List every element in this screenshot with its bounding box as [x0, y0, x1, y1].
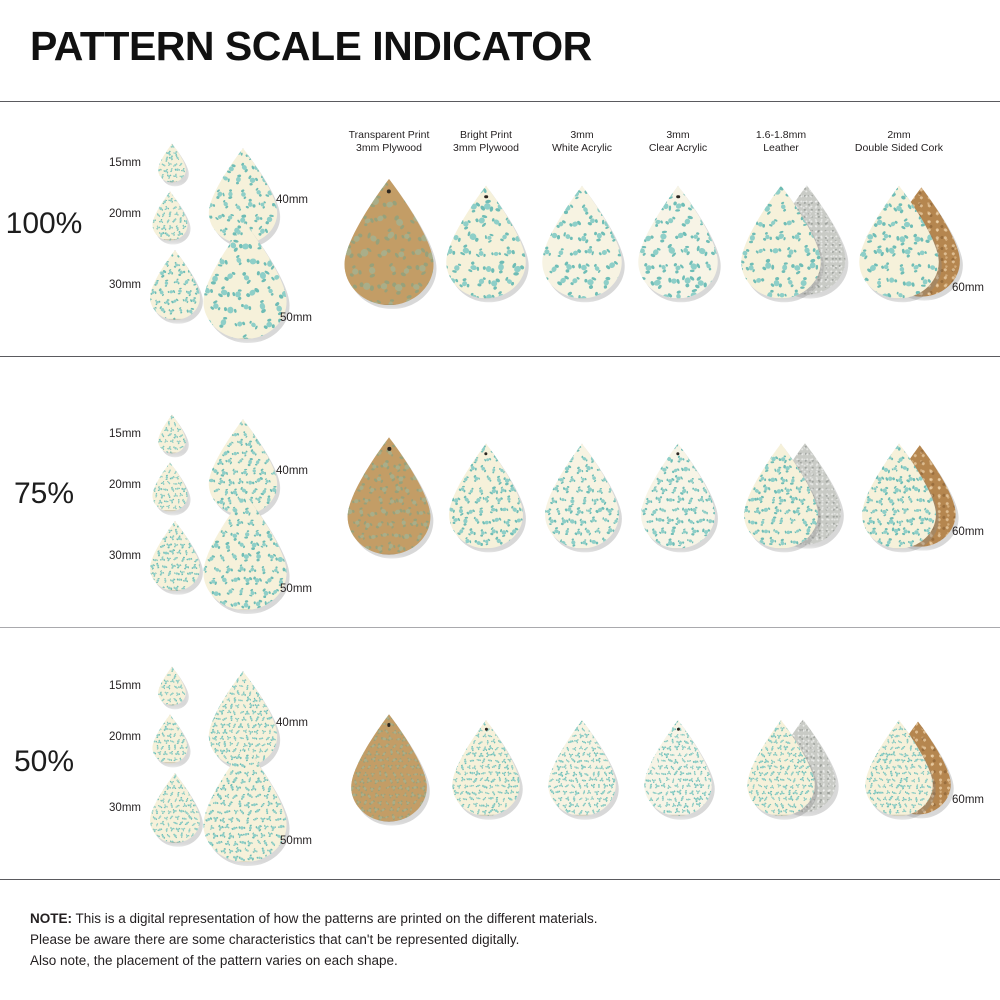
material-drop-bright-print-plywood — [446, 443, 526, 549]
drop-edge — [741, 443, 821, 549]
drop-edge — [744, 720, 817, 816]
material-size-label-100: 60mm — [952, 282, 984, 294]
size-label-30mm: 30mm — [109, 279, 141, 291]
drop-edge — [157, 667, 187, 706]
note-line-2: Please be aware there are some character… — [30, 929, 598, 950]
drop-edge — [859, 443, 939, 549]
drop-edge — [638, 443, 718, 549]
size-label-50mm: 50mm — [280, 312, 312, 324]
drop-edge — [157, 415, 187, 454]
size-drop-50mm — [200, 746, 290, 863]
size-label-20mm: 20mm — [109, 208, 141, 220]
material-drop-leather — [738, 185, 824, 299]
drop-edge — [862, 720, 935, 816]
material-drop-bright-print-plywood — [443, 185, 529, 299]
material-header-line2: Leather — [756, 142, 806, 155]
size-label-30mm: 30mm — [109, 550, 141, 562]
material-drop-double-sided-cork — [859, 443, 939, 549]
drop-edge — [635, 185, 721, 299]
size-label-15mm: 15mm — [109, 680, 141, 692]
size-drop-15mm — [157, 667, 187, 706]
drop-edge — [443, 185, 529, 299]
material-header-line2: Double Sided Cork — [855, 142, 943, 155]
drop-edge — [200, 494, 290, 611]
size-drop-30mm — [148, 521, 202, 591]
size-label-40mm: 40mm — [276, 465, 308, 477]
size-label-15mm: 15mm — [109, 157, 141, 169]
drop-edge — [542, 443, 622, 549]
size-drop-20mm — [151, 462, 189, 511]
material-header-white-acrylic: 3mmWhite Acrylic — [552, 129, 612, 154]
drop-edge — [641, 720, 714, 816]
drop-edge — [200, 223, 290, 340]
drop-edge — [157, 144, 187, 183]
material-header-line1: 2mm — [855, 129, 943, 142]
drop-edge — [148, 773, 202, 843]
divider-top — [0, 101, 1000, 102]
note-line-3: Also note, the placement of the pattern … — [30, 950, 598, 971]
material-drop-white-acrylic — [542, 443, 622, 549]
material-header-line1: 3mm — [552, 129, 612, 142]
hanging-hole — [387, 189, 391, 193]
pattern-scale-indicator-sheet: PATTERN SCALE INDICATOR Transparent Prin… — [0, 0, 1000, 1000]
material-drop-white-acrylic — [545, 720, 618, 816]
size-label-30mm: 30mm — [109, 802, 141, 814]
size-label-50mm: 50mm — [280, 583, 312, 595]
size-label-40mm: 40mm — [276, 717, 308, 729]
material-drop-double-sided-cork — [856, 185, 942, 299]
size-drop-20mm — [151, 191, 189, 240]
size-drop-15mm — [157, 144, 187, 183]
material-header-line2: White Acrylic — [552, 142, 612, 155]
material-header-line2: 3mm Plywood — [453, 142, 519, 155]
material-drop-bright-print-plywood — [449, 720, 522, 816]
material-header-double-sided-cork: 2mmDouble Sided Cork — [855, 129, 943, 154]
material-drop-clear-acrylic — [635, 185, 721, 299]
divider-note — [0, 879, 1000, 880]
material-header-line1: Transparent Print — [349, 129, 430, 142]
size-drop-30mm — [148, 773, 202, 843]
material-drop-double-sided-cork — [862, 720, 935, 816]
drop-edge — [449, 720, 522, 816]
size-drop-50mm — [200, 494, 290, 611]
drop-edge — [344, 437, 434, 555]
size-label-40mm: 40mm — [276, 194, 308, 206]
hanging-hole — [676, 195, 680, 199]
drop-edge — [200, 746, 290, 863]
page-title: PATTERN SCALE INDICATOR — [30, 26, 592, 67]
drop-edge — [148, 521, 202, 591]
hanging-hole — [484, 195, 488, 199]
drop-edge — [148, 250, 202, 320]
material-drop-leather — [741, 443, 821, 549]
hanging-hole — [387, 447, 391, 451]
material-size-label-50: 60mm — [952, 794, 984, 806]
drop-edge — [341, 178, 437, 305]
material-header-row: Transparent Print3mm PlywoodBright Print… — [0, 129, 1000, 163]
material-header-line1: 1.6-1.8mm — [756, 129, 806, 142]
size-drop-15mm — [157, 415, 187, 454]
divider-row-100 — [0, 356, 1000, 357]
size-label-15mm: 15mm — [109, 428, 141, 440]
drop-edge — [539, 185, 625, 299]
size-label-20mm: 20mm — [109, 479, 141, 491]
material-drop-leather — [744, 720, 817, 816]
size-label-50mm: 50mm — [280, 835, 312, 847]
drop-edge — [348, 714, 430, 822]
material-header-clear-acrylic: 3mmClear Acrylic — [649, 129, 707, 154]
material-drop-clear-acrylic — [638, 443, 718, 549]
material-header-transparent-print-plywood: Transparent Print3mm Plywood — [349, 129, 430, 154]
material-drop-clear-acrylic — [641, 720, 714, 816]
size-drop-30mm — [148, 250, 202, 320]
size-label-20mm: 20mm — [109, 731, 141, 743]
drop-edge — [738, 185, 824, 299]
material-header-line1: Bright Print — [453, 129, 519, 142]
material-drop-transparent-print-plywood — [341, 178, 437, 305]
material-header-line1: 3mm — [649, 129, 707, 142]
material-drop-transparent-print-plywood — [348, 714, 430, 822]
scale-label-50: 50% — [14, 745, 74, 779]
drop-edge — [151, 191, 189, 240]
material-drop-transparent-print-plywood — [344, 437, 434, 555]
material-drop-white-acrylic — [539, 185, 625, 299]
size-drop-50mm — [200, 223, 290, 340]
material-header-line2: 3mm Plywood — [349, 142, 430, 155]
material-header-leather: 1.6-1.8mmLeather — [756, 129, 806, 154]
drop-edge — [446, 443, 526, 549]
drop-edge — [151, 714, 189, 763]
drop-edge — [856, 185, 942, 299]
material-header-line2: Clear Acrylic — [649, 142, 707, 155]
material-header-bright-print-plywood: Bright Print3mm Plywood — [453, 129, 519, 154]
drop-edge — [151, 462, 189, 511]
size-drop-20mm — [151, 714, 189, 763]
drop-edge — [545, 720, 618, 816]
divider-row-75 — [0, 627, 1000, 628]
note-block: NOTE: This is a digital representation o… — [30, 908, 598, 971]
scale-label-100: 100% — [6, 207, 83, 241]
material-size-label-75: 60mm — [952, 526, 984, 538]
note-prefix: NOTE: — [30, 911, 72, 926]
scale-label-75: 75% — [14, 477, 74, 511]
note-line-1: This is a digital representation of how … — [72, 911, 598, 926]
